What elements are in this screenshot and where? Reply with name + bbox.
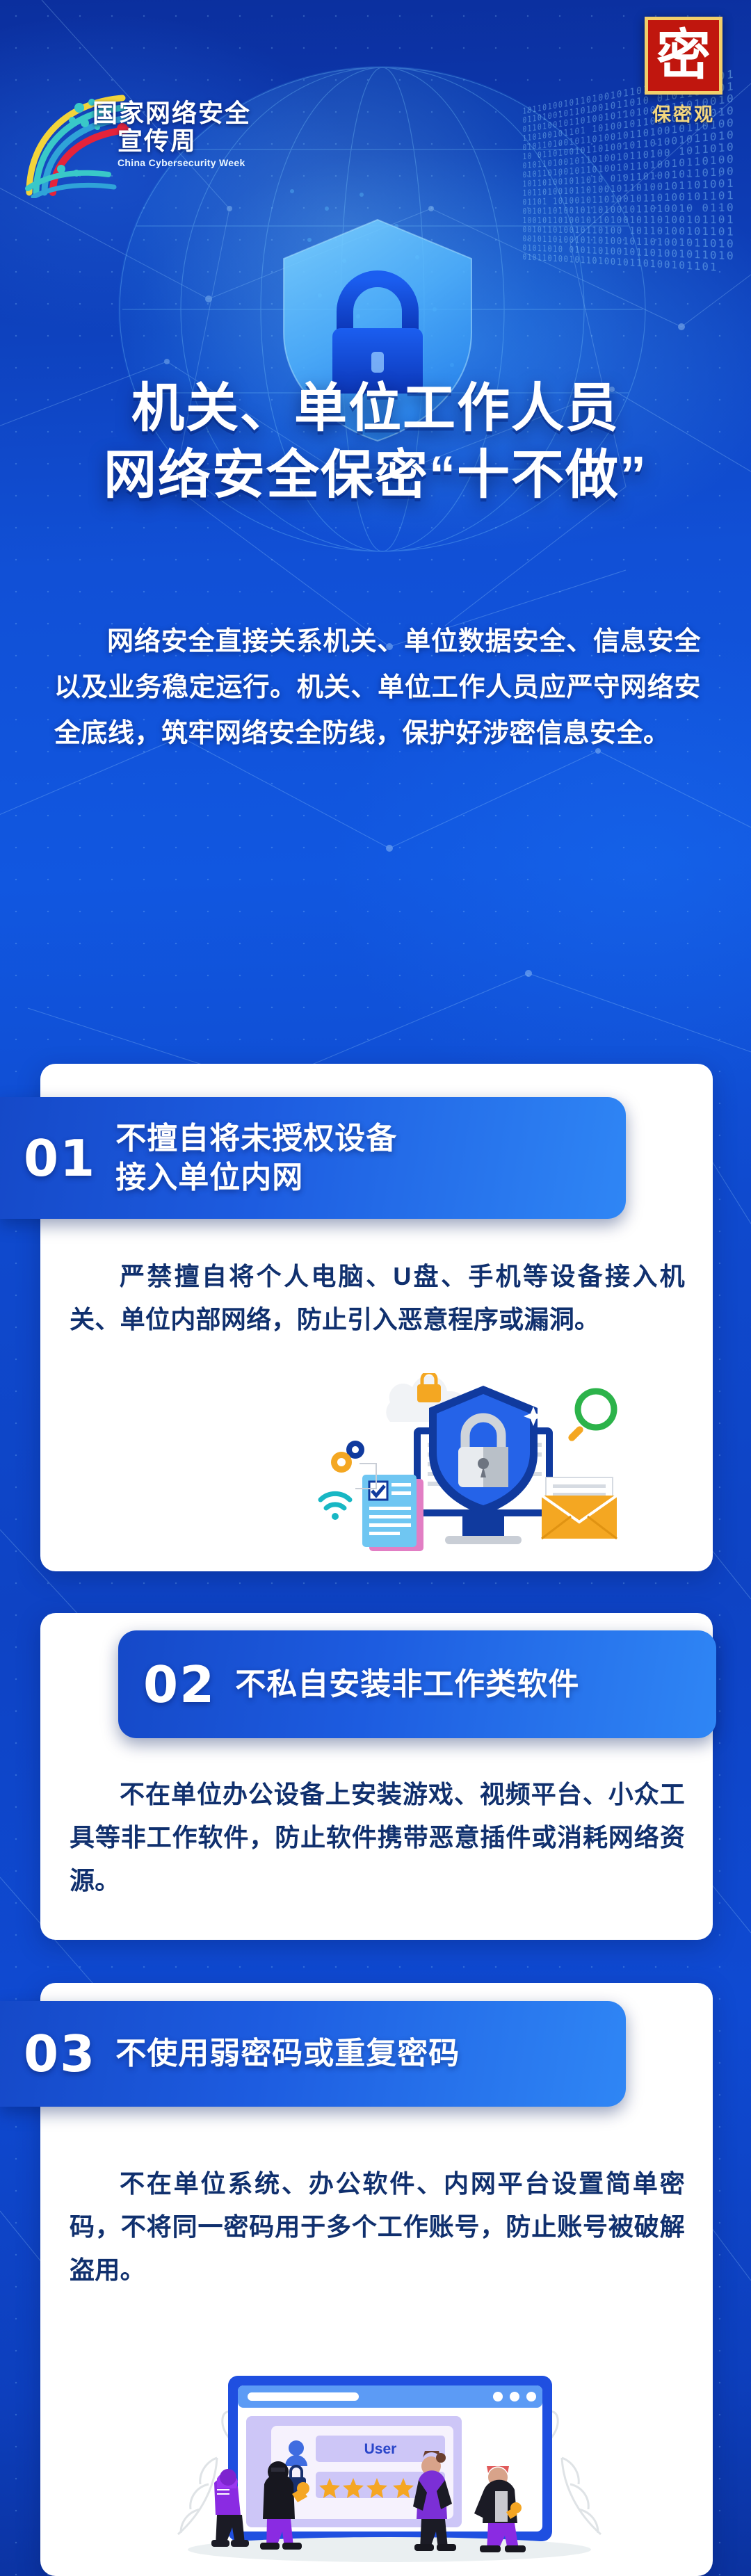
hero-section: 1011010010110100101101001011010010110100… <box>0 0 751 612</box>
rule-number-03: 03 <box>24 2029 96 2079</box>
rule-title-01: 不擅自将未授权设备 接入单位内网 <box>115 1119 397 1197</box>
title-line-1: 机关、单位工作人员 <box>0 375 751 442</box>
rule-body-01: 严禁擅自将个人电脑、U盘、手机等设备接入机关、单位内部网络，防止引入恶意程序或漏… <box>70 1255 685 1341</box>
rule-title-01-line2: 接入单位内网 <box>115 1158 397 1197</box>
rule-banner-01[interactable]: 01 不擅自将未授权设备 接入单位内网 <box>0 1097 626 1219</box>
network-security-shield-icon <box>316 1373 636 1568</box>
rule-banner-02[interactable]: 02 不私自安装非工作类软件 <box>118 1630 716 1738</box>
page-title: 机关、单位工作人员 网络安全保密“十不做” <box>0 375 751 509</box>
rule-title-03-line1: 不使用弱密码或重复密码 <box>115 2034 460 2073</box>
rule-title-01-line1: 不擅自将未授权设备 <box>115 1119 397 1158</box>
seal-label: 保密观 <box>631 99 736 127</box>
logo-line-1: 国家网络安全 <box>92 99 252 127</box>
svg-text:User: User <box>364 2441 397 2457</box>
rule-title-02: 不私自安装非工作类软件 <box>235 1665 579 1704</box>
logo-line-2: 宣传周 <box>92 127 252 155</box>
rule-number-01: 01 <box>24 1133 96 1183</box>
account-password-theft-icon: User <box>174 2360 605 2569</box>
rule-body-03: 不在单位系统、办公软件、内网平台设置简单密码，不将同一密码用于多个工作账号，防止… <box>70 2162 685 2292</box>
rule-banner-03[interactable]: 03 不使用弱密码或重复密码 <box>0 2001 626 2107</box>
rule-title-03: 不使用弱密码或重复密码 <box>115 2034 460 2073</box>
logo-english-subtitle: China Cybersecurity Week <box>92 157 252 168</box>
seal-stamp-box: 密 <box>645 17 722 95</box>
rule-number-02: 02 <box>143 1660 216 1710</box>
rule-title-02-line1: 不私自安装非工作类软件 <box>235 1665 579 1704</box>
rule-body-02: 不在单位办公设备上安装游戏、视频平台、小众工具等非工作软件，防止软件携带恶意插件… <box>70 1773 685 1902</box>
title-line-2: 网络安全保密“十不做” <box>0 442 751 509</box>
secrecy-seal-icon: 密 保密观 <box>631 17 736 128</box>
seal-glyph: 密 <box>656 29 711 83</box>
intro-paragraph: 网络安全直接关系机关、单位数据安全、信息安全以及业务稳定运行。机关、单位工作人员… <box>54 619 701 756</box>
china-cybersecurity-week-logo: 国家网络安全 宣传周 China Cybersecurity Week <box>13 87 242 205</box>
poster-background: 1011010010110100101101001011010010110100… <box>0 0 751 2576</box>
